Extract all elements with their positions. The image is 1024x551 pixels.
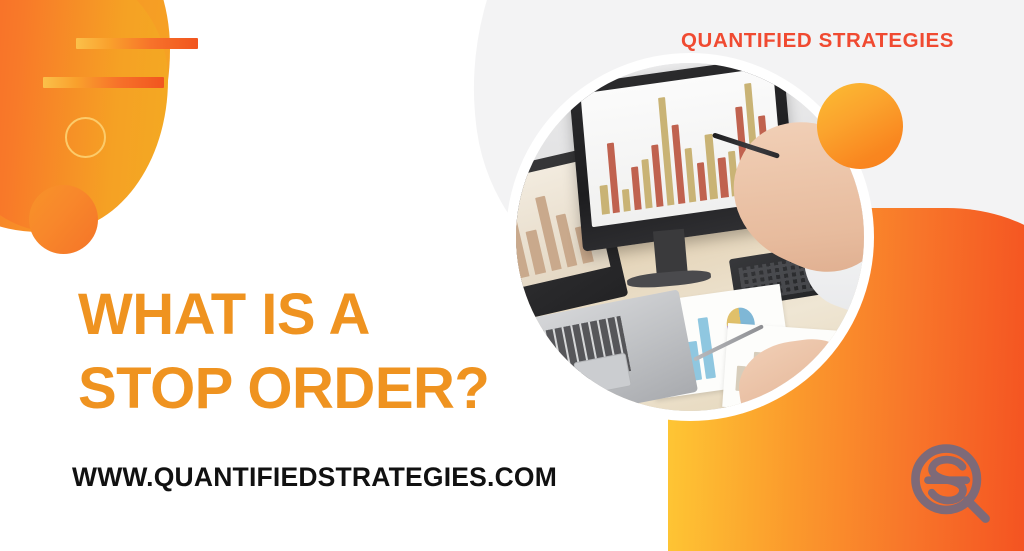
- qs-monogram-magnifier-icon: [903, 437, 999, 533]
- chart-bar: [622, 188, 631, 211]
- chart-bar: [651, 145, 663, 207]
- chart-bar: [600, 185, 610, 215]
- chart-bar: [705, 134, 718, 200]
- photo-scene: [516, 63, 864, 411]
- hero-photo: [516, 63, 864, 411]
- website-url: WWW.QUANTIFIEDSTRATEGIES.COM: [72, 462, 557, 493]
- decorative-solid-circle: [29, 185, 98, 254]
- chart-bar: [697, 162, 707, 201]
- page-title-line-2: STOP ORDER?: [78, 360, 489, 418]
- chart-bar: [718, 157, 729, 198]
- decorative-bar-2: [43, 77, 164, 88]
- decorative-ring-circle: [65, 117, 106, 158]
- decorative-bar-1: [76, 38, 198, 49]
- chart-bar: [671, 125, 685, 204]
- chart-bar: [607, 143, 620, 213]
- brand-wordmark: QUANTIFIED STRATEGIES: [681, 29, 954, 53]
- orange-accent-circle: [817, 83, 903, 169]
- chart-bar: [642, 158, 653, 208]
- page-title: WHAT IS A STOP ORDER?: [78, 286, 489, 418]
- promo-banner: QUANTIFIED STRATEGIES WHAT IS A STOP ORD…: [0, 0, 1024, 551]
- page-title-line-1: WHAT IS A: [78, 282, 370, 347]
- chart-bar: [631, 167, 642, 210]
- chart-bar: [684, 148, 696, 203]
